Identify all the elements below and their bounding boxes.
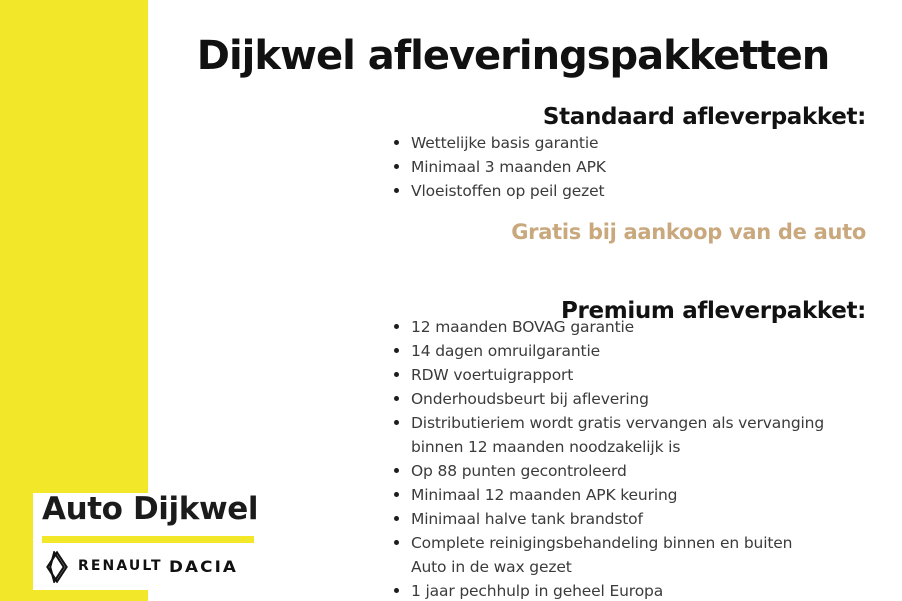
bullet-icon [394,540,399,545]
list-item: Op 88 punten gecontroleerd [394,459,864,483]
renault-diamond-icon [44,551,70,583]
list-item: Minimaal halve tank brandstof [394,507,864,531]
list-item-label: Vloeistoffen op peil gezet [411,179,864,203]
list-item-label: Auto in de wax gezet [411,555,864,579]
list-item-label: binnen 12 maanden noodzakelijk is [411,435,864,459]
list-item: 14 dagen omruilgarantie [394,339,864,363]
list-item: 12 maanden BOVAG garantie [394,315,864,339]
bullet-icon [394,140,399,145]
list-item-label: Op 88 punten gecontroleerd [411,459,864,483]
bullet-icon [394,188,399,193]
bullet-icon [394,588,399,593]
bullet-icon [394,396,399,401]
list-item-label: RDW voertuigrapport [411,363,864,387]
bullet-icon [394,324,399,329]
list-item: Auto in de wax gezet [394,555,864,579]
feature-list-premium: 12 maanden BOVAG garantie14 dagen omruil… [394,315,864,601]
bullet-icon [394,420,399,425]
list-item-label: 1 jaar pechhulp in geheel Europa [411,579,864,601]
list-item: binnen 12 maanden noodzakelijk is [394,435,864,459]
standaard-tagline: Gratis bij aankoop van de auto [511,218,866,246]
promo-poster: Auto Dijkwel RENAULT DACIA Dijkwel aflev… [0,0,902,601]
list-item: Onderhoudsbeurt bij aflevering [394,387,864,411]
list-item-label: Minimaal 12 maanden APK keuring [411,483,864,507]
list-item-label: Complete reinigingsbehandeling binnen en… [411,531,864,555]
section-heading-standaard: Standaard afleverpakket: [543,102,866,132]
bullet-icon [394,468,399,473]
list-item-label: 14 dagen omruilgarantie [411,339,864,363]
list-item-label: Distributieriem wordt gratis vervangen a… [411,411,864,435]
bullet-icon [394,492,399,497]
list-item-label: Minimaal halve tank brandstof [411,507,864,531]
list-item: 1 jaar pechhulp in geheel Europa [394,579,864,601]
list-item-label: Wettelijke basis garantie [411,131,864,155]
list-item: Distributieriem wordt gratis vervangen a… [394,411,864,435]
list-item: Minimaal 12 maanden APK keuring [394,483,864,507]
renault-wordmark: RENAULT [78,558,163,574]
list-item-label: 12 maanden BOVAG garantie [411,315,864,339]
list-item-label: Onderhoudsbeurt bij aflevering [411,387,864,411]
list-item: Minimaal 3 maanden APK [394,155,864,179]
list-item: Wettelijke basis garantie [394,131,864,155]
list-item: Vloeistoffen op peil gezet [394,179,864,203]
bullet-icon [394,516,399,521]
list-item: Complete reinigingsbehandeling binnen en… [394,531,864,555]
list-item-label: Minimaal 3 maanden APK [411,155,864,179]
bullet-icon [394,164,399,169]
page-title: Dijkwel afleveringspakketten [160,31,866,81]
feature-list-standaard: Wettelijke basis garantieMinimaal 3 maan… [394,131,864,203]
list-item: RDW voertuigrapport [394,363,864,387]
bullet-icon [394,372,399,377]
content-column: Dijkwel afleveringspakketten Standaard a… [160,0,902,601]
bullet-icon [394,348,399,353]
